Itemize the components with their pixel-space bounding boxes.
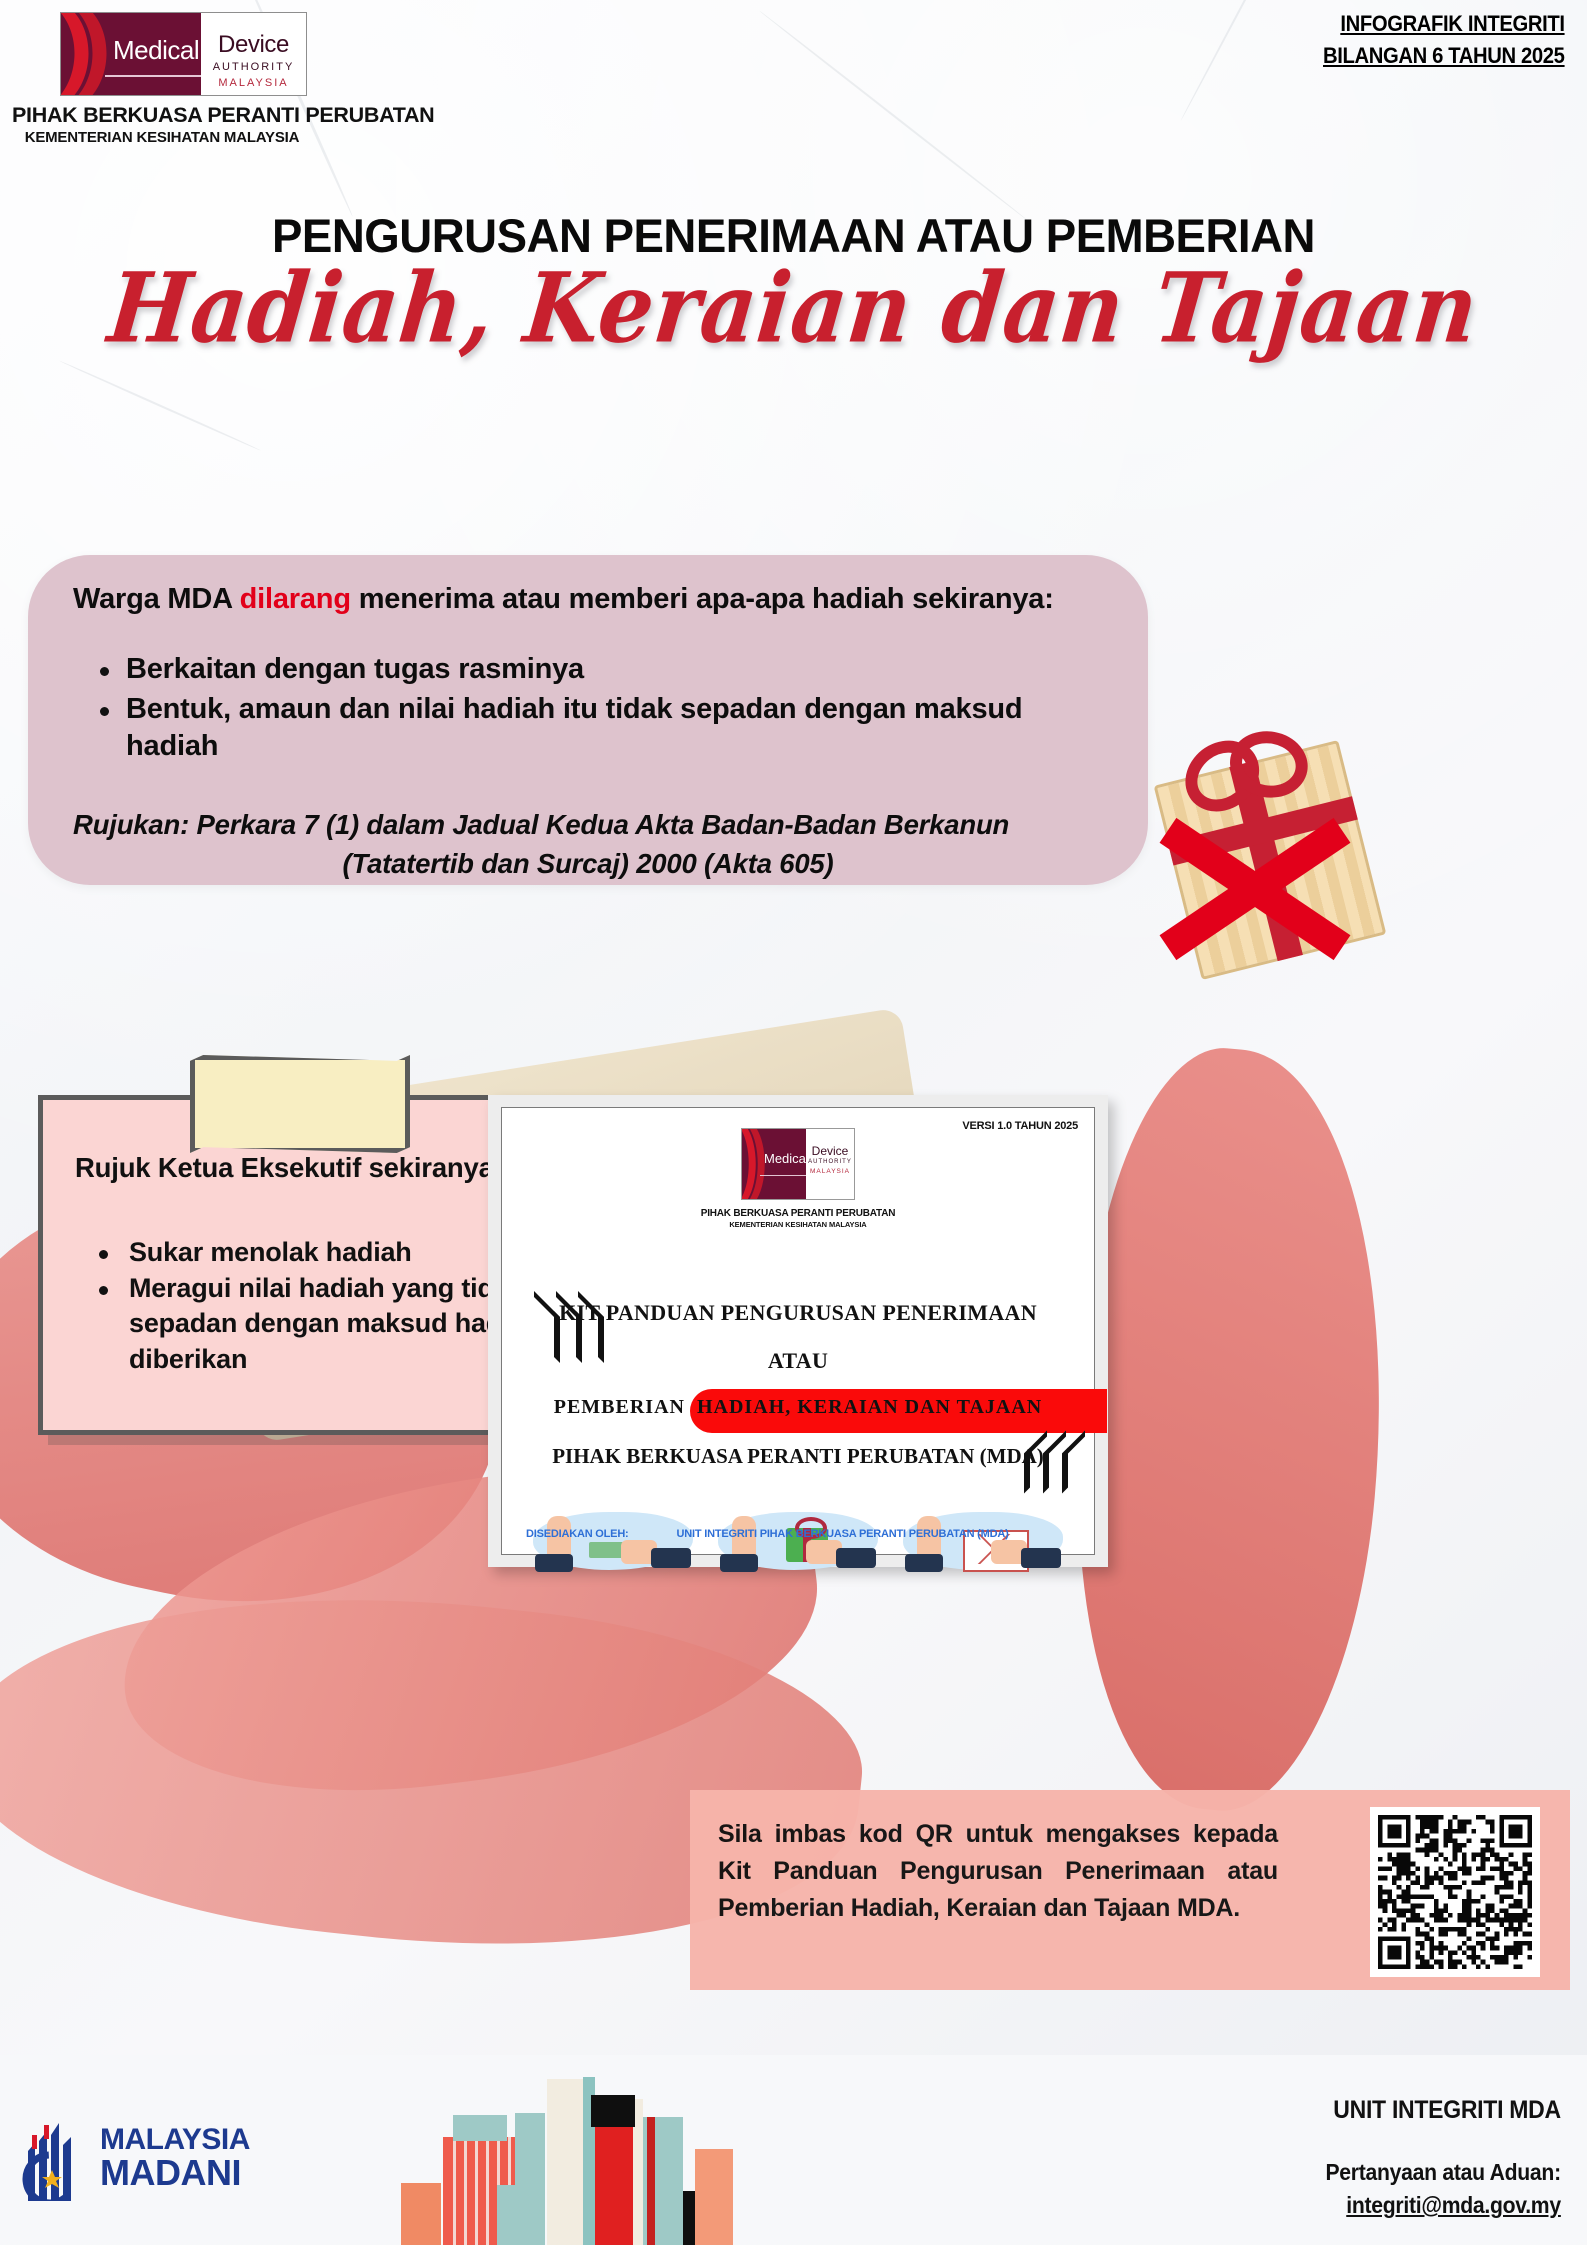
document-footer-value: UNIT INTEGRITI PIHAK BERKUASA PERANTI PE…: [677, 1528, 1009, 1540]
tape-strip-icon: [190, 1055, 410, 1153]
logo-text-device: Device: [806, 1144, 854, 1158]
refuse-envelope-icon: [899, 1502, 1067, 1582]
reference-line-2: (Tatatertib dan Surcaj) 2000 (Akta 605): [73, 844, 1103, 883]
logo-text-malaysia: MALAYSIA: [201, 77, 306, 89]
mda-logo: Medical Device AUTHORITY MALAYSIA PIHAK …: [12, 12, 312, 146]
document-logo-box: Medical Device AUTHORITY MALAYSIA: [741, 1128, 855, 1200]
logo-text-authority: AUTHORITY: [201, 61, 306, 73]
prohibited-x-icon: [1150, 800, 1360, 975]
qr-section: Sila imbas kod QR untuk mengakses kepada…: [690, 1790, 1570, 1990]
logo-text-device: Device: [201, 31, 306, 59]
issue-line-2: BILANGAN 6 TAHUN 2025: [1323, 40, 1565, 72]
refuse-money-icon: [529, 1502, 697, 1582]
logo-arc-icon: [61, 13, 117, 95]
page-footer: MALAYSIA MADANI UNIT INTEGRITI MDA Perta…: [0, 2055, 1587, 2245]
madani-line1: MALAYSIA: [100, 2125, 250, 2155]
illustration-row: [520, 1496, 1076, 1588]
line3-highlight: HADIAH, KERAIAN DAN TAJAAN: [697, 1396, 1042, 1418]
lead-after: menerima atau memberi apa-apa hadiah sek…: [351, 583, 1054, 615]
list-item: Bentuk, amaun dan nilai hadiah itu tidak…: [90, 691, 1100, 765]
gift-stack-illustration: [395, 2077, 735, 2245]
org-name-line1: PIHAK BERKUASA PERANTI PERUBATAN: [12, 103, 312, 128]
document-org-line1: PIHAK BERKUASA PERANTI PERUBATAN: [502, 1208, 1094, 1219]
prohibition-panel: Warga MDA dilarang menerima atau memberi…: [28, 555, 1148, 885]
poster-page: Medical Device AUTHORITY MALAYSIA PIHAK …: [0, 0, 1587, 2245]
panel-lead-text: Warga MDA dilarang menerima atau memberi…: [73, 583, 1054, 616]
marble-vein: [759, 10, 1028, 221]
document-logo-maroon: Medical: [742, 1129, 806, 1199]
document-page: VERSI 1.0 TAHUN 2025 Medical Device AUTH…: [501, 1107, 1095, 1555]
logo-text-authority: AUTHORITY: [806, 1159, 854, 1165]
document-title-line1: KIT PANDUAN PENGURUSAN PENERIMAAN: [502, 1300, 1094, 1326]
logo-underline: [105, 75, 201, 77]
logo-underline: [760, 1175, 806, 1176]
footer-unit-name: UNIT INTEGRITI MDA: [1326, 2096, 1561, 2125]
line3-prefix: PEMBERIAN: [554, 1396, 685, 1418]
document-org-line2: KEMENTERIAN KESIHATAN MALAYSIA: [502, 1220, 1094, 1229]
document-title-line3: PEMBERIAN HADIAH, KERAIAN DAN TAJAAN: [502, 1393, 1094, 1433]
logo-text-medical: Medical: [764, 1151, 806, 1166]
document-title-line4: PIHAK BERKUASA PERANTI PERUBATAN (MDA): [502, 1444, 1094, 1469]
mda-logo-box: Medical Device AUTHORITY MALAYSIA: [60, 12, 307, 96]
lead-highlight: dilarang: [240, 583, 351, 615]
marble-vein: [59, 360, 261, 451]
logo-white-block: Device AUTHORITY MALAYSIA: [201, 13, 306, 95]
document-logo: Medical Device AUTHORITY MALAYSIA PIHAK …: [502, 1128, 1094, 1229]
chevron-left-icon: [1024, 1438, 1082, 1484]
guide-document-preview[interactable]: VERSI 1.0 TAHUN 2025 Medical Device AUTH…: [488, 1095, 1108, 1567]
document-logo-white: Device AUTHORITY MALAYSIA: [806, 1129, 854, 1199]
document-title-line3-text: PEMBERIAN HADIAH, KERAIAN DAN TAJAAN: [502, 1396, 1094, 1419]
qr-code[interactable]: [1370, 1807, 1540, 1977]
issue-line-1: INFOGRAFIK INTEGRITI: [1323, 8, 1565, 40]
madani-icon: [22, 2115, 92, 2201]
org-name-line2: KEMENTERIAN KESIHATAN MALAYSIA: [12, 129, 312, 146]
footer-contact-label: Pertanyaan atau Aduan:: [1326, 2159, 1561, 2186]
malaysia-madani-logo: MALAYSIA MADANI: [22, 2115, 250, 2201]
madani-wordmark: MALAYSIA MADANI: [100, 2125, 250, 2191]
footer-contact: UNIT INTEGRITI MDA Pertanyaan atau Aduan…: [1305, 2096, 1561, 2219]
list-item: Berkaitan dengan tugas rasminya: [90, 651, 1100, 688]
panel-reference: Rujukan: Perkara 7 (1) dalam Jadual Kedu…: [73, 805, 1103, 883]
madani-line2: MADANI: [100, 2155, 250, 2191]
issue-info: INFOGRAFIK INTEGRITI BILANGAN 6 TAHUN 20…: [1302, 8, 1565, 72]
page-subtitle-script: Hadiah, Keraian dan Tajaan: [0, 252, 1587, 365]
document-footer: DISEDIAKAN OLEH: UNIT INTEGRITI PIHAK BE…: [526, 1528, 1078, 1540]
note-heading: Rujuk Ketua Eksekutif sekiranya,: [75, 1152, 501, 1184]
logo-maroon-block: Medical: [61, 13, 201, 95]
logo-text-medical: Medical: [113, 35, 199, 66]
lead-before: Warga MDA: [73, 583, 240, 615]
refuse-gift-icon: [714, 1502, 882, 1582]
document-footer-label: DISEDIAKAN OLEH:: [526, 1528, 629, 1540]
panel-bullet-list: Berkaitan dengan tugas rasminya Bentuk, …: [90, 651, 1100, 768]
reference-line-1: Rujukan: Perkara 7 (1) dalam Jadual Kedu…: [73, 805, 1103, 844]
footer-contact-email[interactable]: integriti@mda.gov.my: [1326, 2192, 1561, 2219]
qr-instruction-text: Sila imbas kod QR untuk mengakses kepada…: [718, 1816, 1278, 1927]
qr-code-canvas[interactable]: [1378, 1815, 1532, 1969]
marble-vein: [1180, 0, 1323, 121]
logo-text-malaysia: MALAYSIA: [806, 1168, 854, 1175]
document-title-line2: ATAU: [502, 1348, 1094, 1374]
